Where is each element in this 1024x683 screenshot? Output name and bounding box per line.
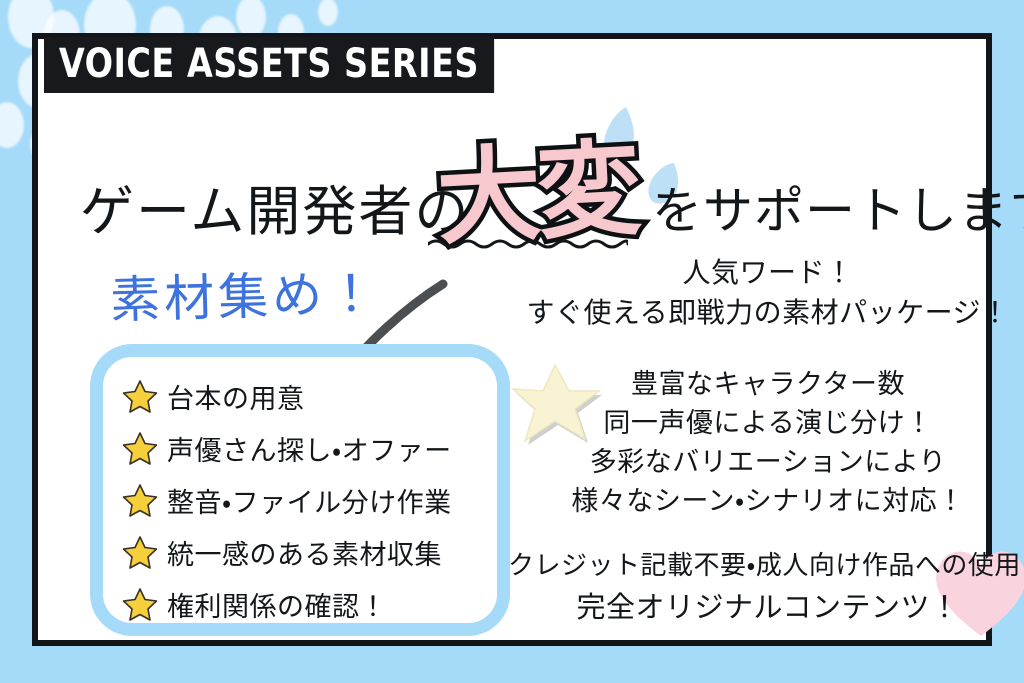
headline-part-after: をサポートします！ (652, 171, 1024, 243)
benefits-features: 豊富なキャラクター数 同一声優による演じ分け！ 多彩なバリエーションにより 様々… (508, 365, 1024, 522)
star-icon (123, 483, 157, 517)
list-item-label: 整音・ファイル分け作業 (167, 481, 452, 520)
list-item-label: 声優さん探し・オファー (167, 429, 452, 468)
spacer (508, 333, 1024, 365)
pain-points-list: 台本の用意 声優さん探し・オファー (123, 371, 513, 629)
list-item: 整音・ファイル分け作業 (123, 475, 513, 525)
headline-part-before: ゲーム開発者の (80, 167, 470, 246)
star-icon (123, 431, 157, 465)
benefits-feature-line: 同一声優による演じ分け！ (508, 404, 1024, 443)
headline: ゲーム開発者の 大変 をサポートします！ (52, 149, 1000, 249)
list-item: 声優さん探し・オファー (123, 423, 513, 473)
pain-points-box: 台本の用意 声優さん探し・オファー (90, 344, 510, 636)
list-item-label: 統一感のある素材収集 (167, 533, 442, 572)
star-icon (123, 535, 157, 569)
list-item: 統一感のある素材収集 (123, 527, 513, 577)
series-banner-label: VOICE ASSETS SERIES (44, 37, 494, 93)
list-item-label: 権利関係の確認！ (167, 585, 387, 624)
benefits-license-line: クレジット記載不要・成人向け作品への使用 OK！ (508, 547, 1024, 586)
benefits-license: クレジット記載不要・成人向け作品への使用 OK！ 完全オリジナルコンテンツ！ (508, 547, 1024, 630)
main-card: VOICE ASSETS SERIES ゲーム開発者の 大変 をサポートします！… (32, 33, 992, 646)
banner-canvas: VOICE ASSETS SERIES ゲーム開発者の 大変 をサポートします！… (0, 0, 1024, 683)
benefits-intro: 人気ワード！ すぐ使える即戦力の素材パッケージ！ (508, 253, 1024, 333)
star-icon (123, 587, 157, 621)
benefits-feature-line: 様々なシーン・シナリオに対応！ (508, 482, 1024, 521)
star-icon (123, 379, 157, 413)
list-item: 台本の用意 (123, 371, 513, 421)
benefits-feature-line: 豊富なキャラクター数 (508, 365, 1024, 404)
wavy-underline-decoration (428, 235, 628, 249)
benefits-intro-line: すぐ使える即戦力の素材パッケージ！ (508, 293, 1024, 333)
benefits-license-line: 完全オリジナルコンテンツ！ (508, 586, 1024, 630)
benefits-feature-line: 多彩なバリエーションにより (508, 443, 1024, 482)
benefits-column: 人気ワード！ すぐ使える即戦力の素材パッケージ！ 豊富なキャラクター数 同一声優… (508, 253, 1024, 630)
list-item-label: 台本の用意 (167, 377, 305, 416)
headline-highlight: 大変 (434, 135, 654, 250)
list-item: 権利関係の確認！ (123, 579, 513, 629)
benefits-intro-line: 人気ワード！ (508, 253, 1024, 293)
